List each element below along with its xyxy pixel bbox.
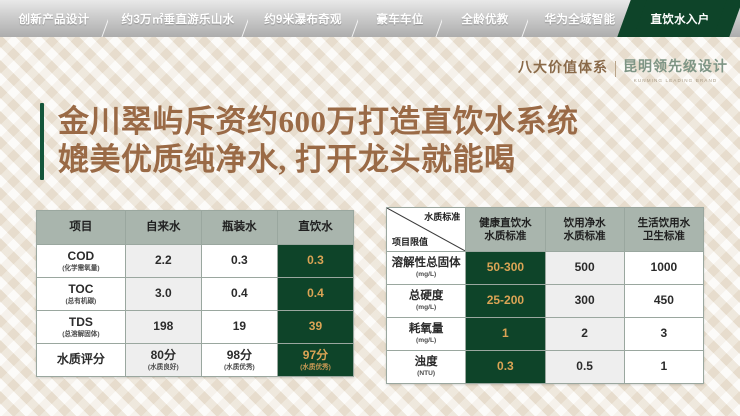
standard-row-name-1: 总硬度(mg/L) [387, 285, 466, 318]
tab-label: 直饮水入户 [651, 11, 710, 27]
cell-value: 2 [581, 326, 588, 340]
cell-value: 500 [575, 260, 595, 274]
cell-bottled-2: 19 [201, 311, 277, 344]
corner-label-standard: 水质标准 [424, 212, 460, 222]
cell-value: 0.5 [576, 359, 593, 373]
cell-healthy-standard-0: 50-300 [466, 252, 545, 285]
cell-healthy-standard-2: 1 [466, 318, 545, 351]
cell-subtext: (总溶解固体) [37, 331, 125, 339]
table-row: 浊度(NTU)0.30.51 [387, 351, 704, 384]
cell-purified-standard-2: 2 [545, 318, 624, 351]
cell-value: 0.4 [307, 286, 324, 300]
standard-column-header-2: 生活饮用水卫生标准 [624, 208, 703, 252]
tab-1[interactable]: 约3万㎡垂直游乐山水 [108, 0, 248, 37]
water-comparison-table: 项目自来水瓶装水直饮水 COD(化学需氧量)2.20.30.3TOC(总有机碳)… [36, 210, 354, 377]
cell-healthy-standard-3: 0.3 [466, 351, 545, 384]
cell-purified-standard-0: 500 [545, 252, 624, 285]
cell-domestic-standard-2: 3 [624, 318, 703, 351]
standard-table-head: 水质标准 项目限值 健康直饮水水质标准饮用净水水质标准生活饮用水卫生标准 [387, 208, 704, 252]
brand-subtitle: 昆明领先级设计 [623, 60, 728, 75]
headline-block: 金川翠屿斥资约600万打造直饮水系统 媲美优质纯净水, 打开龙头就能喝 [40, 103, 579, 180]
brand-block: 八大价值体系 昆明领先级设计 KUNMING LEADING BRAND [518, 60, 728, 83]
tab-label: 华为全域智能 [545, 11, 616, 27]
table-row: COD(化学需氧量)2.20.30.3 [37, 245, 354, 278]
cell-domestic-standard-0: 1000 [624, 252, 703, 285]
table-row: 溶解性总固体(mg/L)50-3005001000 [387, 252, 704, 285]
column-header-2: 瓶装水 [201, 211, 277, 245]
cell-value: 39 [309, 319, 322, 333]
cell-domestic-standard-3: 1 [624, 351, 703, 384]
cell-value: 97分 [303, 348, 328, 362]
table-row: 水质评分80分(水质良好)98分(水质优秀)97分(水质优秀) [37, 344, 354, 377]
tab-label: 全龄优教 [461, 11, 508, 27]
cell-value: 溶解性总固体 [392, 257, 461, 269]
tab-label: 豪车车位 [376, 11, 423, 27]
water-comparison-table-wrap: 项目自来水瓶装水直饮水 COD(化学需氧量)2.20.30.3TOC(总有机碳)… [36, 210, 354, 377]
cell-value: 1 [502, 326, 509, 340]
cell-value: 450 [654, 293, 674, 307]
brand-right-group: 昆明领先级设计 KUNMING LEADING BRAND [623, 60, 728, 83]
headline-line-1: 金川翠屿斥资约600万打造直饮水系统 [58, 103, 579, 141]
tab-3[interactable]: 豪车车位 [358, 0, 442, 37]
page-title: 金川翠屿斥资约600万打造直饮水系统 媲美优质纯净水, 打开龙头就能喝 [58, 103, 579, 180]
cell-domestic-standard-1: 450 [624, 285, 703, 318]
header-line-0: 生活饮用水 [625, 217, 703, 229]
tab-2[interactable]: 约9米瀑布奇观 [248, 0, 358, 37]
cell-subtext: (总有机碳) [37, 298, 125, 306]
table-row: TDS(总溶解固体)1981939 [37, 311, 354, 344]
water-standard-table-wrap: 水质标准 项目限值 健康直饮水水质标准饮用净水水质标准生活饮用水卫生标准 溶解性… [386, 207, 704, 384]
header-line-0: 健康直饮水 [466, 217, 544, 229]
cell-unit: (NTU) [387, 370, 465, 378]
tab-label: 约9米瀑布奇观 [264, 11, 342, 27]
cell-subtext: (水质优秀) [202, 364, 277, 372]
cell-purified-standard-1: 300 [545, 285, 624, 318]
table-header-row: 项目自来水瓶装水直饮水 [37, 211, 354, 245]
cell-value: 25-200 [487, 293, 524, 307]
column-header-3: 直饮水 [277, 211, 353, 245]
corner-header-cell: 水质标准 项目限值 [387, 208, 466, 252]
cell-value: 耗氧量 [409, 323, 444, 335]
header-line-0: 饮用净水 [546, 217, 624, 229]
brand-divider [615, 61, 616, 77]
cell-value: TOC [68, 282, 93, 296]
cell-value: 1 [661, 359, 668, 373]
standard-column-header-1: 饮用净水水质标准 [545, 208, 624, 252]
corner-label-limit: 项目限值 [392, 237, 428, 247]
column-header-0: 项目 [37, 211, 126, 245]
comparison-table-body: COD(化学需氧量)2.20.30.3TOC(总有机碳)3.00.40.4TDS… [37, 245, 354, 377]
brand-main-title: 八大价值体系 [518, 60, 608, 76]
standard-row-name-3: 浊度(NTU) [387, 351, 466, 384]
standard-column-header-0: 健康直饮水水质标准 [466, 208, 545, 252]
cell-tapwater-1: 3.0 [125, 278, 201, 311]
column-header-1: 自来水 [125, 211, 201, 245]
cell-value: 198 [153, 319, 173, 333]
comparison-table-head: 项目自来水瓶装水直饮水 [37, 211, 354, 245]
cell-unit: (mg/L) [387, 337, 465, 345]
brand-english-tagline: KUNMING LEADING BRAND [634, 78, 718, 83]
cell-value: 50-300 [487, 260, 524, 274]
table-row: 耗氧量(mg/L)123 [387, 318, 704, 351]
tab-5[interactable]: 华为全域智能 [528, 0, 632, 37]
row-name-2: TDS(总溶解固体) [37, 311, 126, 344]
cell-value: 300 [575, 293, 595, 307]
table-row: TOC(总有机碳)3.00.40.4 [37, 278, 354, 311]
headline-line-2: 媲美优质纯净水, 打开龙头就能喝 [58, 141, 579, 179]
cell-bottled-0: 0.3 [201, 245, 277, 278]
cell-value: 19 [233, 319, 246, 333]
standard-row-name-2: 耗氧量(mg/L) [387, 318, 466, 351]
cell-directdrink-3: 97分(水质优秀) [277, 344, 353, 377]
table-header-row: 水质标准 项目限值 健康直饮水水质标准饮用净水水质标准生活饮用水卫生标准 [387, 208, 704, 252]
cell-value: TDS [69, 315, 93, 329]
cell-directdrink-0: 0.3 [277, 245, 353, 278]
tab-0[interactable]: 创新产品设计 [0, 0, 108, 37]
table-row: 总硬度(mg/L)25-200300450 [387, 285, 704, 318]
header-line-1: 卫生标准 [625, 230, 703, 242]
cell-value: 0.3 [497, 359, 514, 373]
standard-table-body: 溶解性总固体(mg/L)50-3005001000总硬度(mg/L)25-200… [387, 252, 704, 384]
header-line-1: 水质标准 [466, 230, 544, 242]
tab-6-active[interactable]: 直饮水入户 [632, 0, 728, 37]
cell-unit: (mg/L) [387, 271, 465, 279]
cell-value: 3.0 [155, 286, 172, 300]
cell-tapwater-3: 80分(水质良好) [125, 344, 201, 377]
cell-unit: (mg/L) [387, 304, 465, 312]
cell-healthy-standard-1: 25-200 [466, 285, 545, 318]
cell-directdrink-2: 39 [277, 311, 353, 344]
cell-value: 总硬度 [409, 290, 444, 302]
cell-value: 0.3 [231, 253, 248, 267]
cell-subtext: (水质良好) [126, 364, 201, 372]
row-name-0: COD(化学需氧量) [37, 245, 126, 278]
cell-value: 0.4 [231, 286, 248, 300]
cell-value: 浊度 [415, 356, 438, 368]
cell-tapwater-0: 2.2 [125, 245, 201, 278]
cell-bottled-1: 0.4 [201, 278, 277, 311]
top-tab-bar: 创新产品设计约3万㎡垂直游乐山水约9米瀑布奇观豪车车位全龄优教华为全域智能直饮水… [0, 0, 740, 37]
cell-subtext: (水质优秀) [278, 364, 353, 372]
cell-bottled-3: 98分(水质优秀) [201, 344, 277, 377]
cell-value: 2.2 [155, 253, 172, 267]
cell-value: 水质评分 [57, 352, 105, 366]
row-name-1: TOC(总有机碳) [37, 278, 126, 311]
cell-directdrink-1: 0.4 [277, 278, 353, 311]
tab-label: 约3万㎡垂直游乐山水 [122, 11, 235, 27]
header-line-1: 水质标准 [546, 230, 624, 242]
slide-canvas: 创新产品设计约3万㎡垂直游乐山水约9米瀑布奇观豪车车位全龄优教华为全域智能直饮水… [0, 0, 740, 416]
cell-purified-standard-3: 0.5 [545, 351, 624, 384]
water-standard-table: 水质标准 项目限值 健康直饮水水质标准饮用净水水质标准生活饮用水卫生标准 溶解性… [386, 207, 704, 384]
cell-value: COD [68, 249, 95, 263]
cell-value: 1000 [651, 260, 678, 274]
cell-value: 0.3 [307, 253, 324, 267]
standard-row-name-0: 溶解性总固体(mg/L) [387, 252, 466, 285]
headline-accent-bar [40, 103, 44, 180]
cell-value: 3 [661, 326, 668, 340]
cell-subtext: (化学需氧量) [37, 265, 125, 273]
tab-label: 创新产品设计 [19, 11, 90, 27]
cell-tapwater-2: 198 [125, 311, 201, 344]
tab-4[interactable]: 全龄优教 [442, 0, 528, 37]
cell-value: 80分 [151, 348, 176, 362]
cell-value: 98分 [227, 348, 252, 362]
row-name-3: 水质评分 [37, 344, 126, 377]
